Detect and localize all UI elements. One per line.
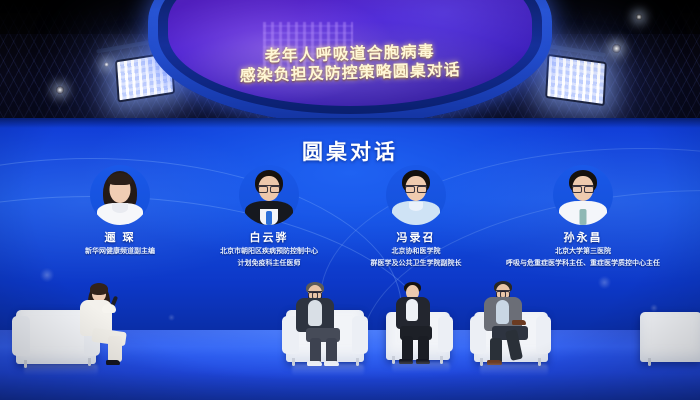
speaker-card-2: 白云骅 北京市朝阳区疾病预防控制中心 计划免疫科主任医师	[196, 163, 342, 269]
speaker-2-org-line2: 计划免疫科主任医师	[196, 259, 342, 269]
armchair-5-leg	[648, 358, 651, 366]
floor-reflection-2	[292, 364, 364, 376]
speaker-4-org-line1: 北京大学第三医院	[478, 247, 688, 257]
curved-led-banner: 老年人呼吸道合胞病毒 感染负担及防控策略圆桌对话	[148, 0, 552, 124]
glasses-icon	[405, 185, 427, 191]
panelist-4-shoe-upper	[512, 320, 526, 325]
speaker-3-name: 冯录召	[348, 229, 484, 245]
panelist-3-shirt	[406, 299, 418, 321]
avatar	[90, 165, 150, 225]
speaker-1-name: 逦 琛	[58, 229, 182, 245]
necktie-shape	[580, 209, 587, 225]
speaker-4-photo	[552, 163, 614, 225]
speaker-card-3: 冯录召 北京协和医学院 群医学及公共卫生学院副院长	[348, 163, 484, 269]
glasses-icon	[258, 185, 280, 191]
speaker-card-4: 孙永昌 北京大学第三医院 呼吸与危重症医学科主任、重症医学质控中心主任	[478, 163, 688, 269]
speaker-4-org-line2: 呼吸与危重症医学科主任、重症医学质控中心主任	[478, 259, 688, 269]
page-title: 圆桌对话	[0, 136, 700, 166]
necktie-shape	[266, 211, 272, 225]
armchair-1-arm-left	[12, 316, 30, 356]
speaker-2-org-line1: 北京市朝阳区疾病预防控制中心	[196, 247, 342, 257]
armchair-4-arm-right	[536, 316, 551, 354]
conference-stage-photo: 老年人呼吸道合胞病毒 感染负担及防控策略圆桌对话 圆桌对话	[0, 0, 700, 400]
ceiling-spotlight-3	[612, 44, 621, 53]
avatar	[386, 165, 446, 225]
speaker-3-org-line2: 群医学及公共卫生学院副院长	[348, 259, 484, 269]
speaker-4-name: 孙永昌	[478, 229, 688, 245]
host-hair-front	[90, 283, 108, 295]
armchair-5-partial	[640, 312, 700, 362]
host-shin	[108, 336, 122, 362]
glasses-icon	[572, 185, 594, 191]
speaker-1-org-line1: 新华网健康频道副主编	[58, 247, 182, 257]
ceiling-spotlight-4	[636, 14, 642, 20]
ceiling-spotlight-1	[56, 86, 64, 94]
panelist-2-shirt	[308, 300, 322, 326]
hair-fringe	[108, 173, 132, 185]
avatar	[239, 165, 299, 225]
speaker-3-org-line1: 北京协和医学院	[348, 247, 484, 257]
floor-reflection-1	[24, 364, 98, 376]
speaker-1-photo	[89, 163, 151, 225]
backdrop-bokeh-5	[168, 314, 175, 321]
glasses-icon	[308, 291, 322, 297]
armchair-3-arm-right	[438, 316, 453, 352]
collar-shape	[409, 202, 423, 211]
speaker-2-name: 白云骅	[196, 229, 342, 245]
speaker-3-photo	[385, 163, 447, 225]
panelist-4-shirt	[496, 300, 509, 324]
armchair-2-arm-right	[352, 316, 368, 354]
host-shoe	[106, 360, 120, 365]
floor-reflection-4	[480, 364, 548, 376]
avatar	[553, 165, 613, 225]
host-arm	[102, 304, 116, 313]
backdrop-bokeh-3	[598, 276, 611, 289]
speaker-2-photo	[238, 163, 300, 225]
led-panel-light-right	[545, 54, 607, 106]
banner-screen-surface: 老年人呼吸道合胞病毒 感染负担及防控策略圆桌对话	[168, 0, 532, 106]
ceiling-spotlight-2	[104, 62, 109, 67]
backdrop-bokeh-4	[650, 304, 658, 312]
speaker-panel-row: 逦 琛 新华网健康频道副主编 白云骅 北京市朝阳区疾病预防控制中心 计划免疫科主…	[0, 163, 700, 275]
collar-shape	[112, 203, 128, 213]
speaker-card-1: 逦 琛 新华网健康频道副主编	[58, 163, 182, 259]
floor-reflection-3	[392, 362, 450, 373]
glasses-icon	[496, 290, 510, 296]
